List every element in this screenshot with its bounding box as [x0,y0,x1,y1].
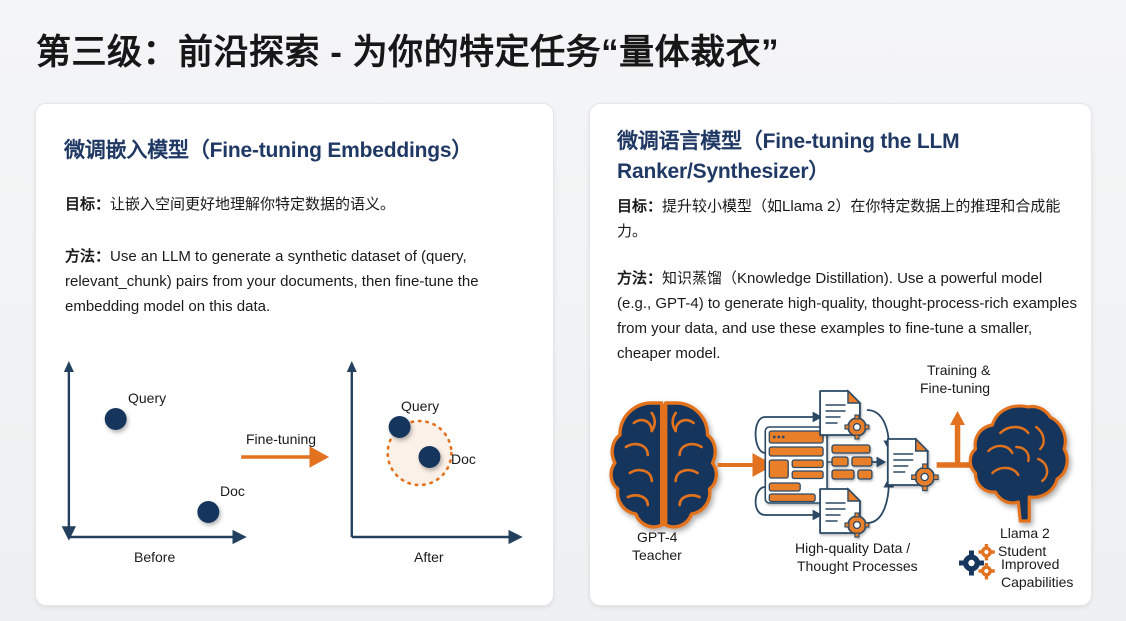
embedding-space-diagram: Query Doc Fine-tuning Query Doc Before A… [36,355,553,605]
before-y-arrowhead [64,361,74,372]
after-axis-label: After [414,548,444,566]
gear-icon-orange-upper [978,544,994,560]
card-left-method: 方法：Use an LLM to generate a synthetic da… [65,244,525,319]
before-query-label: Query [128,389,166,407]
document-gear-bottom-icon [820,489,869,537]
teacher-label-line1: GPT-4 [637,528,677,546]
card-left-goal: 目标：让嵌入空间更好地理解你特定数据的语义。 [65,192,535,217]
improved-capabilities-gears-icon [959,544,995,579]
after-point-doc [419,446,441,468]
document-gear-right-icon [888,439,938,491]
card-right-method: 方法：知识蒸馏（Knowledge Distillation). Use a p… [617,266,1077,366]
embedding-space-svg [36,355,553,605]
card-left-method-label: 方法： [65,248,110,265]
data-panel-icon [765,427,827,503]
student-label-line1: Llama 2 [1000,524,1050,542]
after-point-query [389,416,411,438]
teacher-label-line2: Teacher [632,546,682,564]
card-right-goal-text: 提升较小模型（如Llama 2）在你特定数据上的推理和合成能力。 [617,198,1060,240]
data-label-line2: Thought Processes [797,557,918,575]
capabilities-line1: Improved [1001,555,1059,573]
before-axis-label: Before [134,548,175,566]
fine-tuning-label: Fine-tuning [246,430,316,448]
after-doc-label: Doc [451,450,476,468]
after-query-label: Query [401,397,439,415]
distillation-pipeline-diagram: GPT-4 Teacher High-quality Data / Though… [590,355,1091,605]
training-label-line1: Training & [927,361,990,379]
card-right-method-text: 知识蒸馏（Knowledge Distillation). Use a powe… [617,270,1077,362]
card-left-goal-text: 让嵌入空间更好地理解你特定数据的语义。 [110,196,395,213]
card-right-goal-label: 目标： [617,198,662,215]
before-point-query [105,408,127,430]
before-doc-label: Doc [220,482,245,500]
gpt4-teacher-brain-icon [611,403,716,527]
llama2-student-brain-icon [970,406,1067,521]
page-title: 第三级：前沿探索 - 为你的特定任务“量体裁衣” [36,24,779,75]
card-left-goal-label: 目标： [65,196,110,213]
card-right-heading: 微调语言模型（Fine-tuning the LLM Ranker/Synthe… [617,127,1057,187]
capabilities-line2: Capabilities [1001,573,1073,591]
before-point-doc [197,501,219,523]
document-gear-top-icon [820,391,869,439]
card-right-method-label: 方法： [617,270,662,287]
data-label-line1: High-quality Data / [795,539,910,557]
card-left-method-text: Use an LLM to generate a synthetic datas… [65,248,479,315]
card-fine-tuning-embeddings: 微调嵌入模型（Fine-tuning Embeddings） 目标：让嵌入空间更… [35,103,554,606]
card-right-goal: 目标：提升较小模型（如Llama 2）在你特定数据上的推理和合成能力。 [617,194,1072,244]
after-y-arrowhead [347,361,357,372]
training-label-line2: Fine-tuning [920,379,990,397]
thought-blocks-icon [827,445,881,479]
card-left-heading: 微调嵌入模型（Fine-tuning Embeddings） [64,136,534,166]
card-fine-tuning-llm: 微调语言模型（Fine-tuning the LLM Ranker/Synthe… [589,103,1092,606]
